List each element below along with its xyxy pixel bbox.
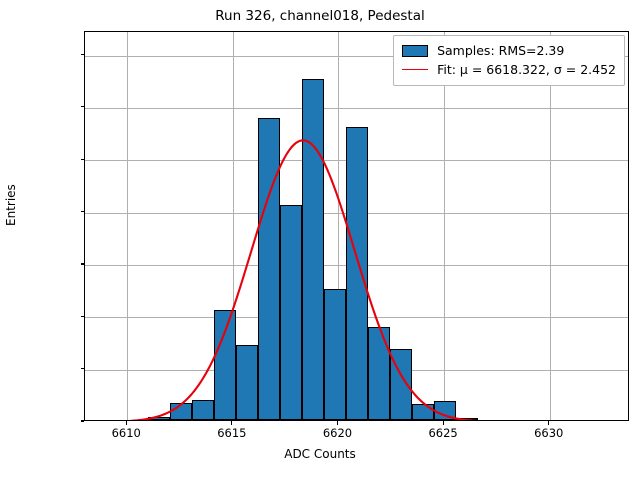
- x-tick-mark: [443, 421, 444, 425]
- histogram-bar: [192, 400, 214, 420]
- histogram-bar: [346, 127, 368, 420]
- gridline-horizontal: [85, 108, 628, 109]
- gridline-vertical: [127, 32, 128, 420]
- gridline-vertical: [550, 32, 551, 420]
- histogram-bar: [258, 118, 280, 420]
- x-tick-label: 6615: [217, 426, 246, 440]
- gridline-vertical: [444, 32, 445, 420]
- legend-item-fit[interactable]: Fit: μ = 6618.322, σ = 2.452: [402, 60, 616, 79]
- matplotlib-figure: Run 326, channel018, Pedestal Entries AD…: [0, 0, 640, 480]
- histogram-bar: [148, 417, 170, 420]
- x-tick-mark: [231, 421, 232, 425]
- histogram-bar: [434, 401, 456, 420]
- legend-swatch-fit-icon: [402, 69, 428, 70]
- histogram-bar: [214, 310, 236, 420]
- legend-swatch-samples-icon: [402, 45, 428, 57]
- y-axis-label: Entries: [4, 184, 18, 226]
- x-tick-label: 6630: [534, 426, 563, 440]
- x-tick-label: 6620: [323, 426, 352, 440]
- legend-label-fit: Fit: μ = 6618.322, σ = 2.452: [437, 62, 616, 77]
- histogram-bar: [280, 205, 302, 420]
- x-tick-mark: [548, 421, 549, 425]
- histogram-bar: [236, 345, 258, 420]
- histogram-bar: [456, 418, 478, 420]
- histogram-bar: [368, 327, 390, 420]
- x-axis-label: ADC Counts: [0, 447, 640, 461]
- x-tick-label: 6625: [428, 426, 457, 440]
- histogram-bar: [170, 403, 192, 420]
- chart-title: Run 326, channel018, Pedestal: [0, 8, 640, 24]
- histogram-bar: [390, 349, 412, 420]
- plot-area: Samples: RMS=2.39 Fit: μ = 6618.322, σ =…: [84, 31, 629, 421]
- histogram-bar: [412, 404, 434, 420]
- x-tick-mark: [126, 421, 127, 425]
- histogram-bar: [324, 289, 346, 420]
- x-tick-label: 6610: [112, 426, 141, 440]
- chart-legend[interactable]: Samples: RMS=2.39 Fit: μ = 6618.322, σ =…: [393, 35, 625, 86]
- x-tick-mark: [337, 421, 338, 425]
- histogram-bar: [302, 79, 324, 420]
- legend-item-samples[interactable]: Samples: RMS=2.39: [402, 41, 616, 60]
- legend-label-samples: Samples: RMS=2.39: [437, 43, 564, 58]
